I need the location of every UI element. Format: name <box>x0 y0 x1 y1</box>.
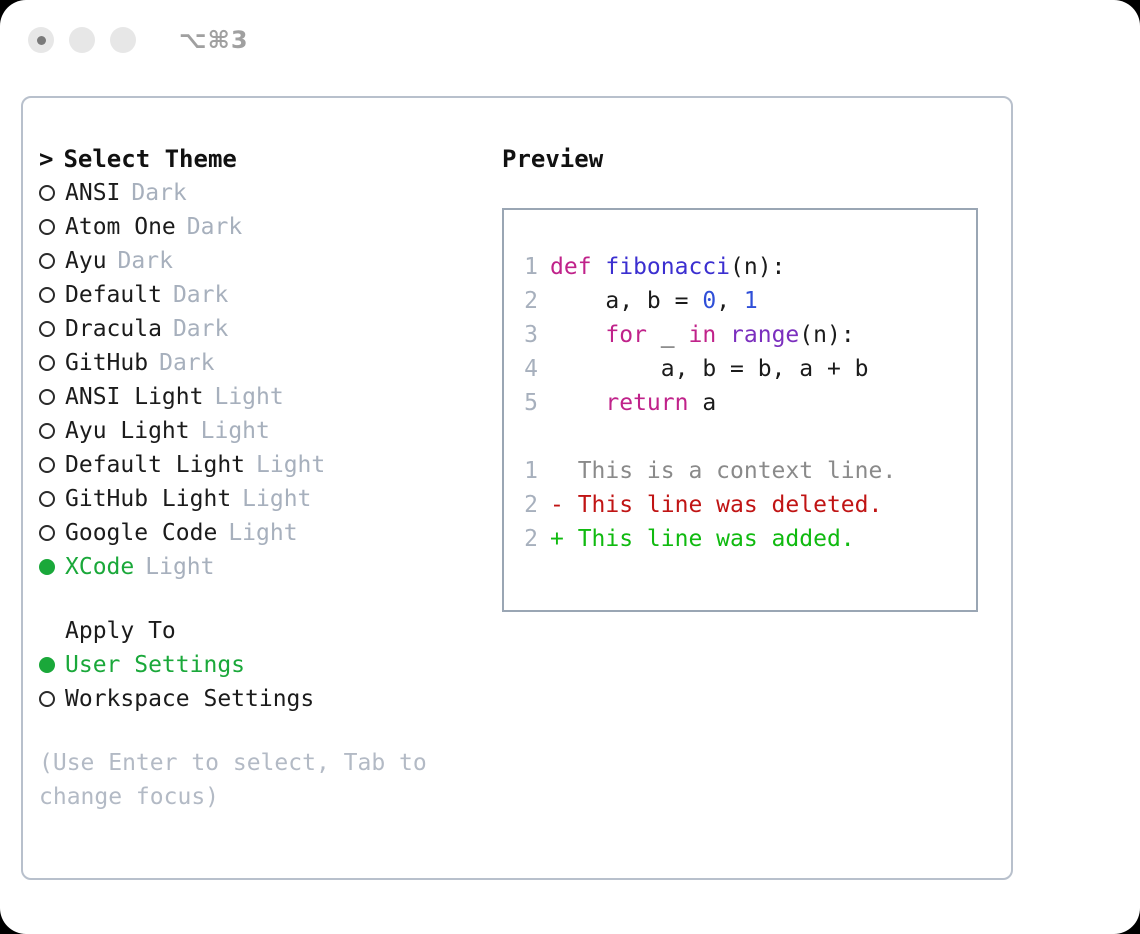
theme-selector-column: >Select Theme ANSIDarkAtom OneDarkAyuDar… <box>39 142 479 814</box>
theme-item-name: Ayu Light <box>65 414 190 448</box>
app-window: ⌥⌘3 >Select Theme ANSIDarkAtom OneDarkAy… <box>0 0 1140 934</box>
theme-item-name: ANSI <box>65 176 120 210</box>
code-token-plain: a <box>688 390 716 416</box>
code-token-plain: (n): <box>730 254 785 280</box>
apply-to-option[interactable]: User Settings <box>39 648 479 682</box>
theme-item-kind: Dark <box>173 312 228 346</box>
code-line-content: return a <box>550 386 716 420</box>
theme-item-kind: Dark <box>173 278 228 312</box>
preview-spacer <box>504 420 976 454</box>
code-token-plain <box>550 390 605 416</box>
window-dot-2-button[interactable] <box>69 27 95 53</box>
code-line: 3 for _ in range(n): <box>504 318 976 352</box>
diff-line-number: 2 <box>504 488 550 522</box>
code-line-number: 5 <box>504 386 550 420</box>
apply-to-heading: Apply To <box>39 614 479 648</box>
code-token-kw: def <box>550 254 605 280</box>
theme-item[interactable]: Atom OneDark <box>39 210 479 244</box>
code-token-plain: _ <box>647 322 689 348</box>
diff-line: 2- This line was deleted. <box>504 488 976 522</box>
preview-box: 1def fibonacci(n):2 a, b = 0, 13 for _ i… <box>502 208 978 612</box>
radio-unselected-icon <box>39 491 55 507</box>
radio-unselected-icon <box>39 321 55 337</box>
window-dot-3-button[interactable] <box>110 27 136 53</box>
radio-unselected-icon <box>39 287 55 303</box>
code-token-kw: return <box>605 390 688 416</box>
theme-item[interactable]: ANSIDark <box>39 176 479 210</box>
theme-item-kind: Light <box>242 482 311 516</box>
theme-item[interactable]: DefaultDark <box>39 278 479 312</box>
diff-line-content-del: - This line was deleted. <box>550 488 882 522</box>
prompt-caret-icon: > <box>39 145 53 173</box>
theme-item-name: Atom One <box>65 210 176 244</box>
select-theme-heading: >Select Theme <box>39 142 479 176</box>
theme-item-name: Ayu <box>65 244 107 278</box>
theme-item-kind: Light <box>214 380 283 414</box>
theme-item[interactable]: Google CodeLight <box>39 516 479 550</box>
main-panel: >Select Theme ANSIDarkAtom OneDarkAyuDar… <box>21 96 1013 880</box>
theme-item-kind: Light <box>228 516 297 550</box>
theme-item-name: GitHub Light <box>65 482 231 516</box>
code-token-plain <box>716 322 730 348</box>
diff-line-content-add: + This line was added. <box>550 522 855 556</box>
code-line-number: 2 <box>504 284 550 318</box>
code-line-content: def fibonacci(n): <box>550 250 785 284</box>
diff-sample: 1 This is a context line.2- This line wa… <box>504 454 976 556</box>
theme-item-name: Default <box>65 278 162 312</box>
radio-unselected-icon <box>39 185 55 201</box>
theme-item-name: Default Light <box>65 448 245 482</box>
theme-item-name: GitHub <box>65 346 148 380</box>
theme-item[interactable]: AyuDark <box>39 244 479 278</box>
theme-item[interactable]: DraculaDark <box>39 312 479 346</box>
theme-item-kind: Light <box>145 550 214 584</box>
code-sample: 1def fibonacci(n):2 a, b = 0, 13 for _ i… <box>504 250 976 420</box>
code-token-plain <box>550 322 605 348</box>
code-line: 5 return a <box>504 386 976 420</box>
theme-item-kind: Dark <box>159 346 214 380</box>
radio-unselected-icon <box>39 219 55 235</box>
theme-item[interactable]: Default LightLight <box>39 448 479 482</box>
code-token-plain: a, b = <box>550 288 702 314</box>
code-token-plain: a, b = b, a + b <box>550 356 869 382</box>
theme-item[interactable]: GitHubDark <box>39 346 479 380</box>
apply-to-option[interactable]: Workspace Settings <box>39 682 479 716</box>
theme-item-kind: Light <box>256 448 325 482</box>
radio-unselected-icon <box>39 691 55 707</box>
theme-item-name: Dracula <box>65 312 162 346</box>
theme-item-kind: Dark <box>118 244 173 278</box>
keyboard-hint-text: (Use Enter to select, Tab to change focu… <box>39 746 449 814</box>
theme-item-kind: Light <box>201 414 270 448</box>
window-dot-active-indicator <box>37 36 46 45</box>
theme-item[interactable]: XCodeLight <box>39 550 479 584</box>
radio-unselected-icon <box>39 423 55 439</box>
diff-line-content-ctx: This is a context line. <box>550 454 896 488</box>
code-token-call: range <box>730 322 799 348</box>
diff-line-number: 1 <box>504 454 550 488</box>
code-line-content: for _ in range(n): <box>550 318 855 352</box>
radio-selected-icon <box>39 559 55 575</box>
code-line-content: a, b = b, a + b <box>550 352 869 386</box>
radio-unselected-icon <box>39 355 55 371</box>
apply-to-list: User SettingsWorkspace Settings <box>39 648 479 716</box>
apply-to-option-label: Workspace Settings <box>65 682 314 716</box>
code-line: 1def fibonacci(n): <box>504 250 976 284</box>
preview-column: Preview 1def fibonacci(n):2 a, b = 0, 13… <box>502 142 992 612</box>
code-line-content: a, b = 0, 1 <box>550 284 758 318</box>
code-line: 2 a, b = 0, 1 <box>504 284 976 318</box>
theme-item[interactable]: ANSI LightLight <box>39 380 479 414</box>
select-theme-heading-label: Select Theme <box>63 145 236 173</box>
theme-item[interactable]: Ayu LightLight <box>39 414 479 448</box>
code-line-number: 4 <box>504 352 550 386</box>
code-line-number: 3 <box>504 318 550 352</box>
code-token-kw: in <box>688 322 716 348</box>
code-token-kw: for <box>605 322 647 348</box>
code-token-num: 0 <box>702 288 716 314</box>
radio-unselected-icon <box>39 525 55 541</box>
diff-line: 2+ This line was added. <box>504 522 976 556</box>
apply-to-option-label: User Settings <box>65 648 245 682</box>
title-bar: ⌥⌘3 <box>0 0 1140 80</box>
preview-heading: Preview <box>502 142 992 176</box>
code-token-plain: , <box>716 288 744 314</box>
radio-unselected-icon <box>39 457 55 473</box>
diff-line: 1 This is a context line. <box>504 454 976 488</box>
theme-item[interactable]: GitHub LightLight <box>39 482 479 516</box>
code-line: 4 a, b = b, a + b <box>504 352 976 386</box>
diff-line-number: 2 <box>504 522 550 556</box>
code-line-number: 1 <box>504 250 550 284</box>
theme-item-name: Google Code <box>65 516 217 550</box>
theme-item-kind: Dark <box>187 210 242 244</box>
theme-list: ANSIDarkAtom OneDarkAyuDarkDefaultDarkDr… <box>39 176 479 584</box>
code-token-fn: fibonacci <box>605 254 730 280</box>
code-token-num: 1 <box>744 288 758 314</box>
radio-unselected-icon <box>39 253 55 269</box>
theme-item-kind: Dark <box>131 176 186 210</box>
theme-item-name: XCode <box>65 550 134 584</box>
theme-item-name: ANSI Light <box>65 380 203 414</box>
keyboard-shortcut-label: ⌥⌘3 <box>179 26 249 54</box>
code-token-plain: (n): <box>799 322 854 348</box>
window-dot-active-button[interactable] <box>28 27 54 53</box>
radio-unselected-icon <box>39 389 55 405</box>
radio-selected-icon <box>39 657 55 673</box>
